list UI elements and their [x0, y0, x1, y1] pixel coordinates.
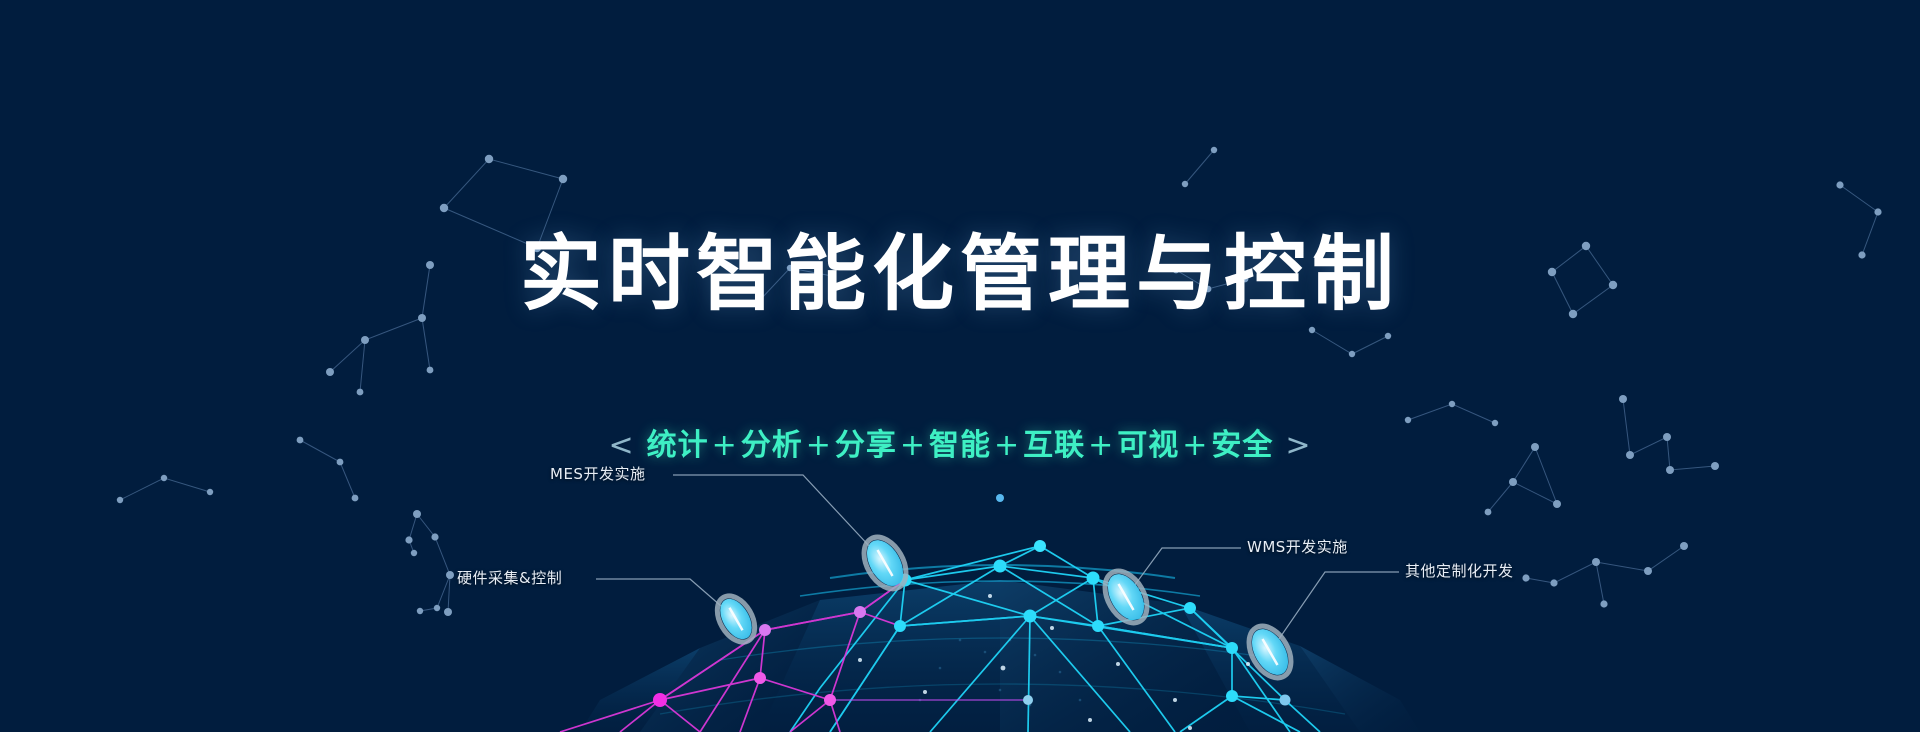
keyword-5: 可视	[1117, 428, 1179, 463]
keyword-0: 统计	[647, 428, 709, 463]
subtitle-keywords: <统计+分析+分享+智能+互联+可视+安全>	[0, 428, 1920, 464]
callout-label-other: 其他定制化开发	[1405, 562, 1514, 580]
callout-label-mes: MES开发实施	[550, 465, 645, 483]
constellation-background	[0, 0, 1920, 732]
separator-4: +	[1085, 428, 1117, 463]
keyword-4: 互联	[1023, 428, 1085, 463]
callout-label-hardware: 硬件采集&控制	[457, 569, 562, 587]
subtitle-close-bracket: >	[1273, 428, 1323, 463]
network-globe	[0, 0, 1920, 732]
separator-3: +	[991, 428, 1023, 463]
keyword-6: 安全	[1211, 428, 1273, 463]
separator-0: +	[709, 428, 741, 463]
keyword-2: 分享	[835, 428, 897, 463]
page-title: 实时智能化管理与控制	[0, 228, 1920, 320]
keyword-3: 智能	[929, 428, 991, 463]
subtitle-open-bracket: <	[596, 428, 646, 463]
separator-5: +	[1179, 428, 1211, 463]
keyword-1: 分析	[741, 428, 803, 463]
globe-markers	[710, 530, 1300, 685]
separator-2: +	[897, 428, 929, 463]
hero-banner: 实时智能化管理与控制 <统计+分析+分享+智能+互联+可视+安全> MES开发实…	[0, 0, 1920, 732]
callout-label-wms: WMS开发实施	[1247, 538, 1348, 556]
separator-1: +	[803, 428, 835, 463]
